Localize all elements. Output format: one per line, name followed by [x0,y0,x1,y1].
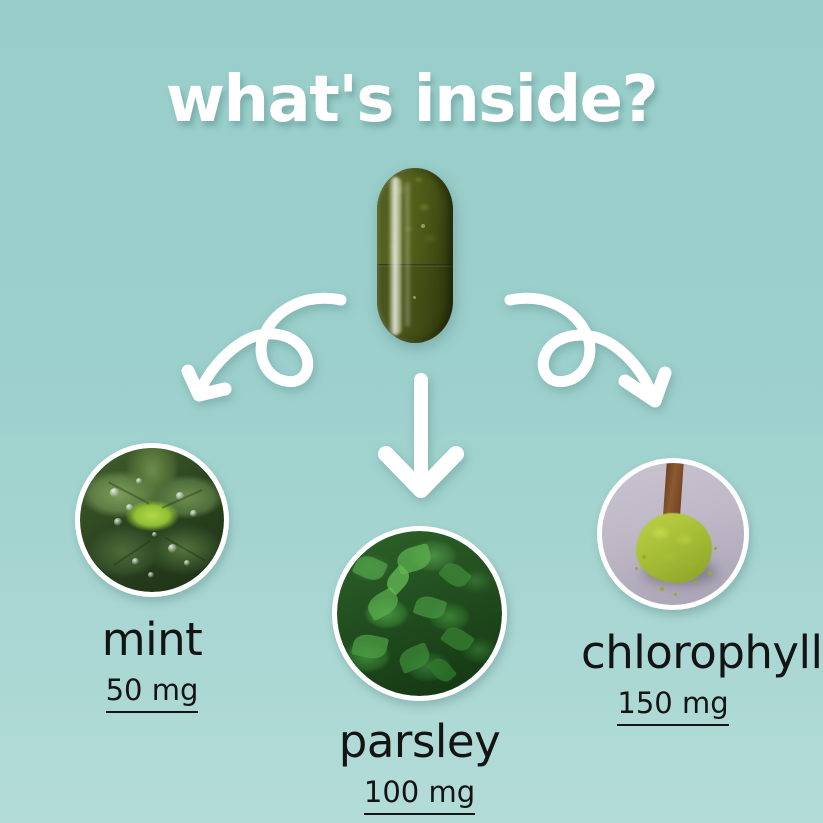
ingredient-image-chlorophyll [597,458,749,610]
supplement-capsule [377,168,453,343]
capsule-body [377,168,453,343]
ingredient-chlorophyll: chlorophyll 150 mg [597,458,749,718]
ingredient-name-parsley: parsley [332,719,507,764]
ingredient-image-parsley [332,526,507,701]
ingredient-image-mint [75,443,229,597]
ingredient-name-chlorophyll: chlorophyll [581,630,765,675]
capsule-rim-shading [377,168,453,343]
ingredient-dose-parsley: 100 mg [332,778,507,807]
arrow-left-curly [185,285,365,410]
arrow-right-curly [497,285,677,415]
arrow-center-straight [376,372,466,504]
ingredient-dose-chlorophyll: 150 mg [581,689,765,718]
infographic-canvas: what's inside? [0,0,823,823]
ingredient-parsley: parsley 100 mg [332,526,507,807]
ingredient-mint: mint 50 mg [75,443,229,705]
ingredient-dose-mint: 50 mg [75,676,229,705]
page-title: what's inside? [0,68,823,132]
ingredient-name-mint: mint [75,617,229,662]
